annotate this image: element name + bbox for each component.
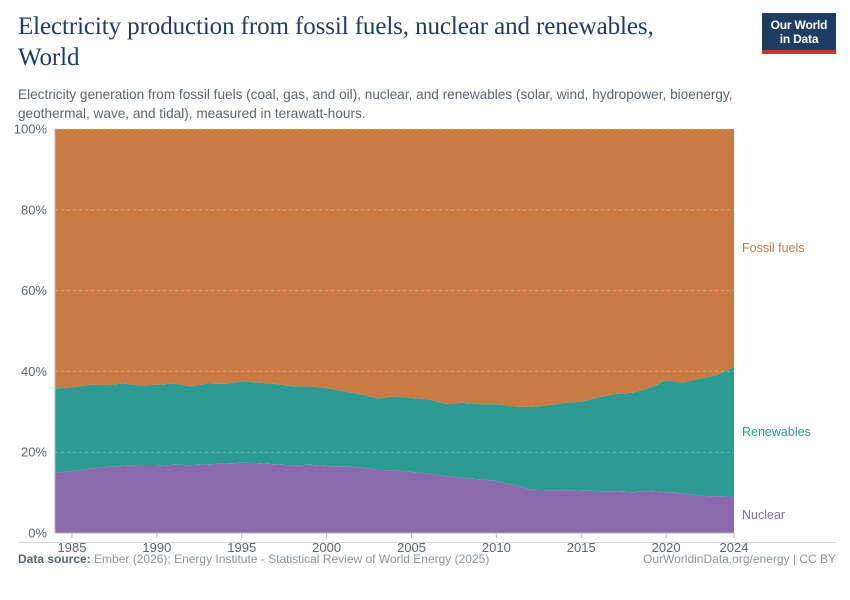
y-axis-tick-label: 40% <box>21 364 47 379</box>
y-axis-tick-label: 100% <box>14 122 48 137</box>
area-series-group <box>55 129 734 533</box>
page-title: Electricity production from fossil fuels… <box>18 12 698 73</box>
legend-label-renewables[interactable]: Renewables <box>742 425 811 439</box>
chart-area[interactable]: 0%20%40%60%80%100% 198519901995200020052… <box>0 118 850 558</box>
y-axis-tick-label: 0% <box>28 526 47 541</box>
series-legend[interactable]: NuclearRenewablesFossil fuels <box>742 241 811 522</box>
owid-logo[interactable]: Our World in Data <box>762 13 836 54</box>
logo-line-2: in Data <box>766 32 832 46</box>
y-axis: 0%20%40%60%80%100% <box>14 122 55 541</box>
logo-line-1: Our World <box>766 18 832 32</box>
data-source-text: Ember (2026); Energy Institute - Statist… <box>94 552 489 566</box>
data-source: Data source: Ember (2026); Energy Instit… <box>18 552 489 566</box>
data-source-label: Data source: <box>18 552 91 566</box>
owid-link[interactable]: OurWorldinData.org/energy | CC BY <box>643 552 836 566</box>
legend-label-nuclear[interactable]: Nuclear <box>742 508 785 522</box>
chart-header: Electricity production from fossil fuels… <box>18 12 758 124</box>
y-axis-tick-label: 80% <box>21 202 47 217</box>
y-axis-tick-label: 60% <box>21 283 47 298</box>
stacked-area-chart[interactable]: 0%20%40%60%80%100% 198519901995200020052… <box>0 118 850 558</box>
chart-page: Electricity production from fossil fuels… <box>0 0 850 600</box>
chart-footer: Data source: Ember (2026); Energy Instit… <box>18 542 836 582</box>
y-axis-tick-label: 20% <box>21 445 47 460</box>
area-series-fossil-fuels <box>55 129 734 407</box>
legend-label-fossil-fuels[interactable]: Fossil fuels <box>742 241 805 255</box>
